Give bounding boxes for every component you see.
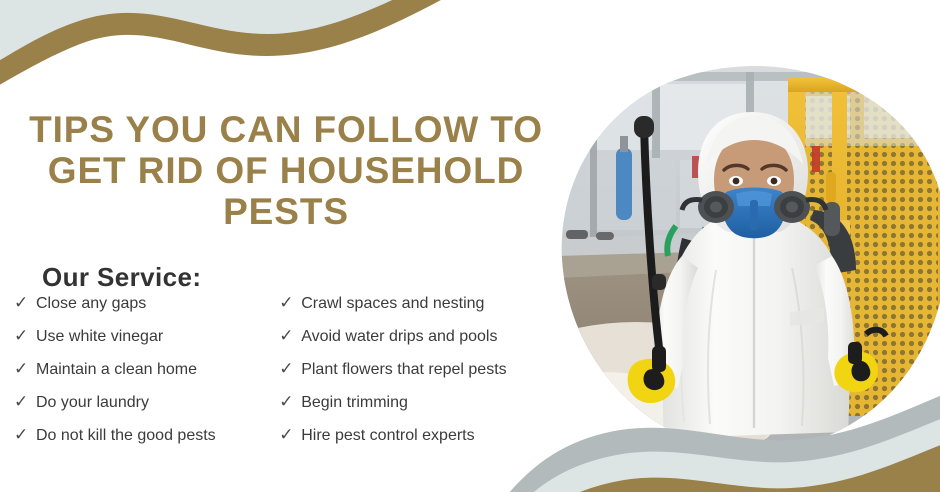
- checklist-right-column: ✓ Crawl spaces and nesting ✓ Avoid water…: [279, 294, 560, 459]
- worker-photo: [556, 60, 940, 460]
- our-service-heading: Our Service:: [42, 262, 201, 293]
- list-item-label: Do not kill the good pests: [36, 427, 216, 445]
- check-icon: ✓: [14, 360, 36, 377]
- checklist-left-column: ✓ Close any gaps ✓ Use white vinegar ✓ M…: [0, 294, 279, 459]
- wave-top-gray: [0, 0, 470, 84]
- check-icon: ✓: [279, 360, 301, 377]
- check-icon: ✓: [14, 327, 36, 344]
- list-item: ✓ Do not kill the good pests: [14, 426, 279, 459]
- worker-photo-svg: [556, 60, 940, 460]
- list-item: ✓ Maintain a clean home: [14, 360, 279, 393]
- check-icon: ✓: [279, 327, 301, 344]
- list-item: ✓ Use white vinegar: [14, 327, 279, 360]
- list-item-label: Avoid water drips and pools: [301, 328, 497, 346]
- check-icon: ✓: [279, 393, 301, 410]
- list-item-label: Close any gaps: [36, 295, 146, 313]
- check-icon: ✓: [279, 294, 301, 311]
- list-item-label: Maintain a clean home: [36, 361, 197, 379]
- service-checklist: ✓ Close any gaps ✓ Use white vinegar ✓ M…: [0, 294, 560, 459]
- list-item-label: Hire pest control experts: [301, 427, 474, 445]
- list-item: ✓ Do your laundry: [14, 393, 279, 426]
- check-icon: ✓: [279, 426, 301, 443]
- check-icon: ✓: [14, 426, 36, 443]
- list-item-label: Crawl spaces and nesting: [301, 295, 484, 313]
- list-item: ✓ Crawl spaces and nesting: [279, 294, 560, 327]
- list-item: ✓ Plant flowers that repel pests: [279, 360, 560, 393]
- list-item: ✓ Avoid water drips and pools: [279, 327, 560, 360]
- list-item: ✓ Hire pest control experts: [279, 426, 560, 459]
- wave-top-gold: [0, 0, 470, 108]
- list-item-label: Do your laundry: [36, 394, 149, 412]
- check-icon: ✓: [14, 393, 36, 410]
- list-item-label: Plant flowers that repel pests: [301, 361, 506, 379]
- list-item-label: Use white vinegar: [36, 328, 163, 346]
- list-item: ✓ Begin trimming: [279, 393, 560, 426]
- list-item: ✓ Close any gaps: [14, 294, 279, 327]
- list-item-label: Begin trimming: [301, 394, 408, 412]
- poster-canvas: Tips You Can Follow To Get Rid Of Househ…: [0, 0, 940, 492]
- wave-top-light: [0, 0, 470, 104]
- check-icon: ✓: [14, 294, 36, 311]
- page-title: Tips You Can Follow To Get Rid Of Househ…: [16, 109, 556, 232]
